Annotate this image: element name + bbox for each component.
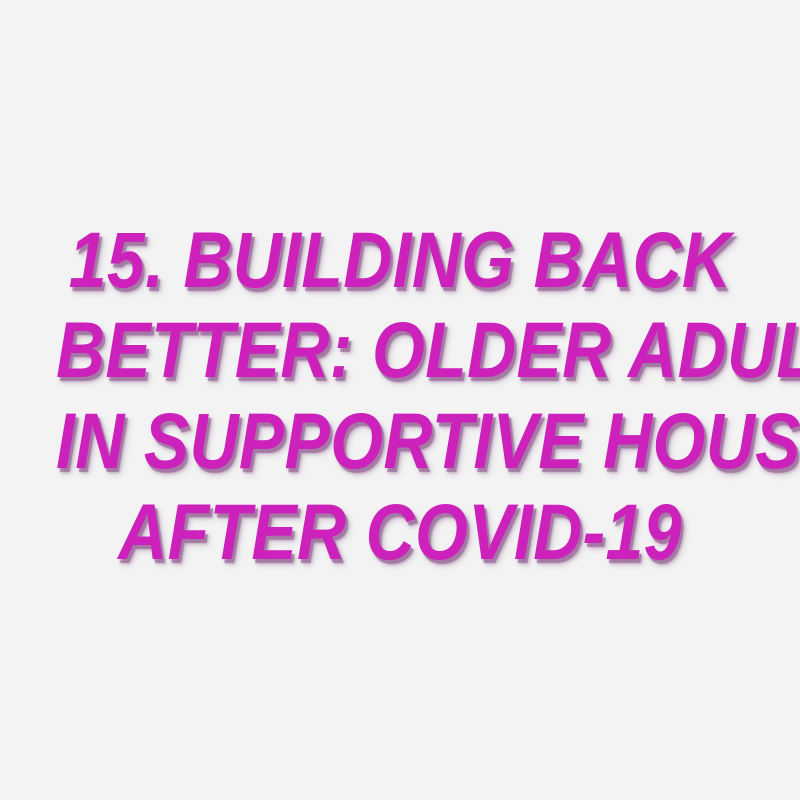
page-title: 15. BUILDING BACK BETTER: OLDER ADULTS I… [0,222,800,571]
title-line-3: IN SUPPORTIVE HOUSING [56,403,744,480]
title-slide: 15. BUILDING BACK BETTER: OLDER ADULTS I… [0,0,800,800]
title-line-2: BETTER: OLDER ADULTS [56,312,744,389]
title-line-4: AFTER COVID-19 [56,494,744,571]
title-line-1: 15. BUILDING BACK [56,222,744,299]
